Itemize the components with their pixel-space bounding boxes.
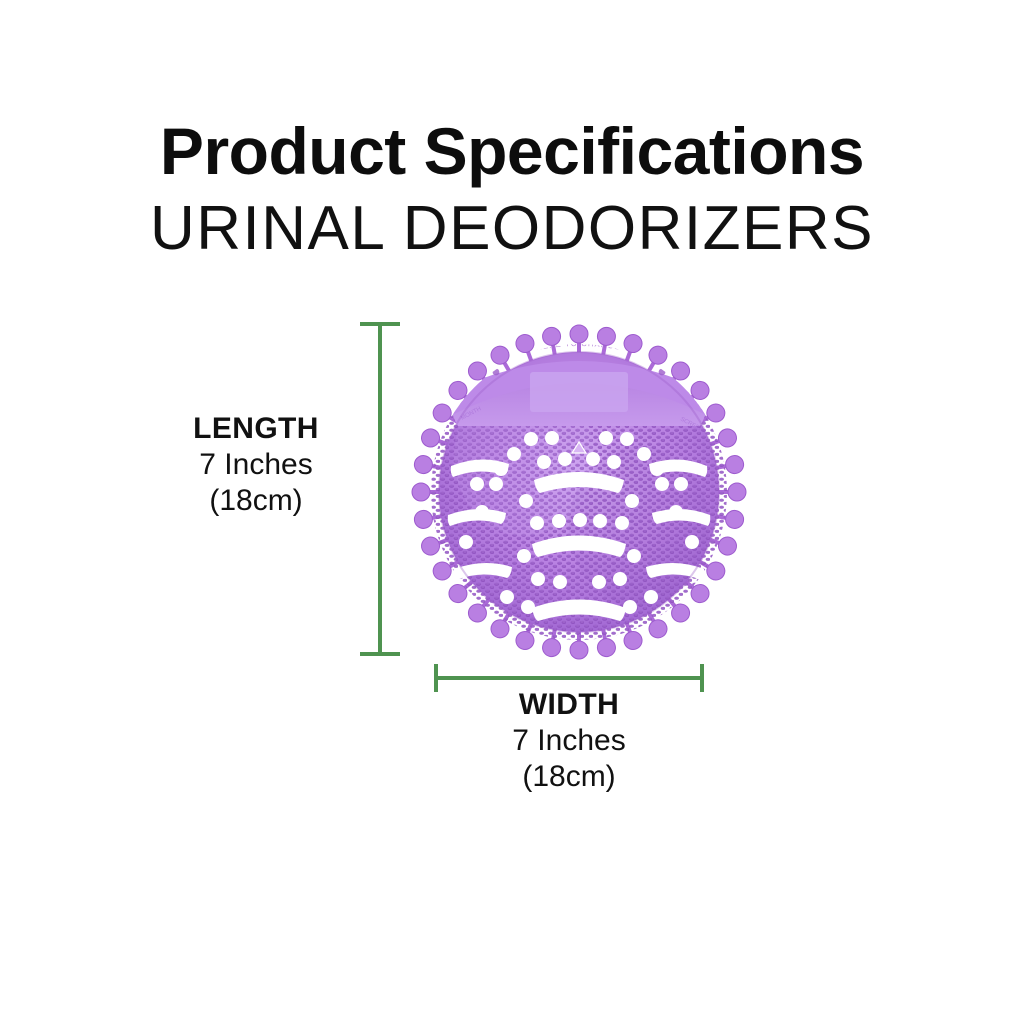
heading-block: Product Specifications URINAL DEODORIZER… [0,118,1024,260]
screen-body: PULL HERE TO CHANGE DATE MONTH SCREEN [424,339,734,640]
length-label-group: LENGTH 7 Inches (18cm) [142,412,370,519]
label-patch [530,372,628,412]
length-label-value: 7 Inches [142,447,370,483]
width-label-name: WIDTH [424,688,714,723]
urinal-screen-graphic: PULL HERE TO CHANGE DATE MONTH SCREEN [404,316,754,662]
product-specification-page: Product Specifications URINAL DEODORIZER… [0,0,1024,1024]
length-rule-line [378,322,382,656]
page-title: Product Specifications [0,118,1024,184]
length-label-metric: (18cm) [142,483,370,519]
width-label-group: WIDTH 7 Inches (18cm) [424,688,714,795]
page-subtitle: URINAL DEODORIZERS [0,198,1024,260]
length-rule-bottom-cap [360,652,400,656]
width-rule-line [434,676,704,680]
width-label-value: 7 Inches [424,723,714,759]
pin-hole-left [493,369,500,376]
product-image: PULL HERE TO CHANGE DATE MONTH SCREEN [404,316,754,662]
pin-hole-right [659,369,666,376]
width-label-metric: (18cm) [424,759,714,795]
length-label-name: LENGTH [142,412,370,447]
